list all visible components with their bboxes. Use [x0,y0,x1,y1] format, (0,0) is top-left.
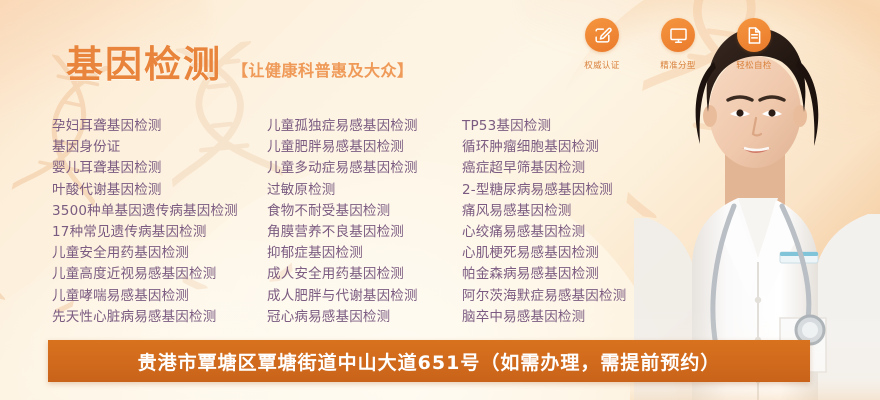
feature-badges: 权威认证 精准分型 轻松自检 [574,18,782,71]
list-item[interactable]: 痛风易感基因检测 [462,201,672,222]
badge-precise-typing[interactable]: 精准分型 [650,18,706,71]
list-item[interactable]: 帕金森病易感基因检测 [462,264,672,285]
list-item[interactable]: TP53基因检测 [462,116,672,137]
list-item[interactable]: 叶酸代谢基因检测 [52,180,267,201]
service-column-2: 儿童孤独症易感基因检测 儿童肥胖易感基因检测 儿童多动症易感基因检测 过敏原检测… [267,116,462,328]
list-item[interactable]: 儿童肥胖易感基因检测 [267,137,462,158]
list-item[interactable]: 过敏原检测 [267,180,462,201]
list-item[interactable]: 成人安全用药基因检测 [267,264,462,285]
list-item[interactable]: 孕妇耳聋基因检测 [52,116,267,137]
page-title: 基因检测 [66,46,222,83]
list-item[interactable]: 儿童安全用药基因检测 [52,243,267,264]
list-item[interactable]: 角膜营养不良基因检测 [267,222,462,243]
list-item[interactable]: 儿童哮喘易感基因检测 [52,286,267,307]
list-item[interactable]: 脑卒中易感基因检测 [462,307,672,328]
service-column-3: TP53基因检测 循环肿瘤细胞基因检测 癌症超早筛基因检测 2-型糖尿病易感基因… [462,116,672,328]
badge-easy-self-check[interactable]: 轻松自检 [726,18,782,71]
list-item[interactable]: 癌症超早筛基因检测 [462,158,672,179]
list-item[interactable]: 儿童孤独症易感基因检测 [267,116,462,137]
gene-testing-promo-banner: 基因检测 【让健康科普惠及大众】 权威认证 精准分型 [0,0,880,400]
list-item[interactable]: 循环肿瘤细胞基因检测 [462,137,672,158]
list-item[interactable]: 成人肥胖与代谢基因检测 [267,286,462,307]
address-text: 贵港市覃塘区覃塘街道中山大道651号（如需办理，需提前预约） [138,348,721,375]
badge-label: 精准分型 [650,59,706,71]
monitor-icon [661,18,695,52]
list-item[interactable]: 食物不耐受基因检测 [267,201,462,222]
edit-pencil-icon [585,18,619,52]
list-item[interactable]: 儿童高度近视易感基因检测 [52,264,267,285]
list-item[interactable]: 婴儿耳聋基因检测 [52,158,267,179]
list-item[interactable]: 基因身份证 [52,137,267,158]
list-item[interactable]: 心肌梗死易感基因检测 [462,243,672,264]
list-item[interactable]: 2-型糖尿病易感基因检测 [462,180,672,201]
service-list: 孕妇耳聋基因检测 基因身份证 婴儿耳聋基因检测 叶酸代谢基因检测 3500种单基… [52,116,672,328]
badge-label: 轻松自检 [726,59,782,71]
list-item[interactable]: 3500种单基因遗传病基因检测 [52,201,267,222]
badge-label: 权威认证 [574,59,630,71]
address-bar: 贵港市覃塘区覃塘街道中山大道651号（如需办理，需提前预约） [48,340,810,382]
list-item[interactable]: 17种常见遗传病基因检测 [52,222,267,243]
page-subtitle: 【让健康科普惠及大众】 [232,63,414,83]
list-item[interactable]: 儿童多动症易感基因检测 [267,158,462,179]
list-item[interactable]: 心绞痛易感基因检测 [462,222,672,243]
badge-authority-certification[interactable]: 权威认证 [574,18,630,71]
service-column-1: 孕妇耳聋基因检测 基因身份证 婴儿耳聋基因检测 叶酸代谢基因检测 3500种单基… [52,116,267,328]
banner-header: 基因检测 【让健康科普惠及大众】 [66,46,414,83]
document-icon [737,18,771,52]
list-item[interactable]: 冠心病易感基因检测 [267,307,462,328]
list-item[interactable]: 阿尔茨海默症易感基因检测 [462,286,672,307]
list-item[interactable]: 先天性心脏病易感基因检测 [52,307,267,328]
list-item[interactable]: 抑郁症基因检测 [267,243,462,264]
